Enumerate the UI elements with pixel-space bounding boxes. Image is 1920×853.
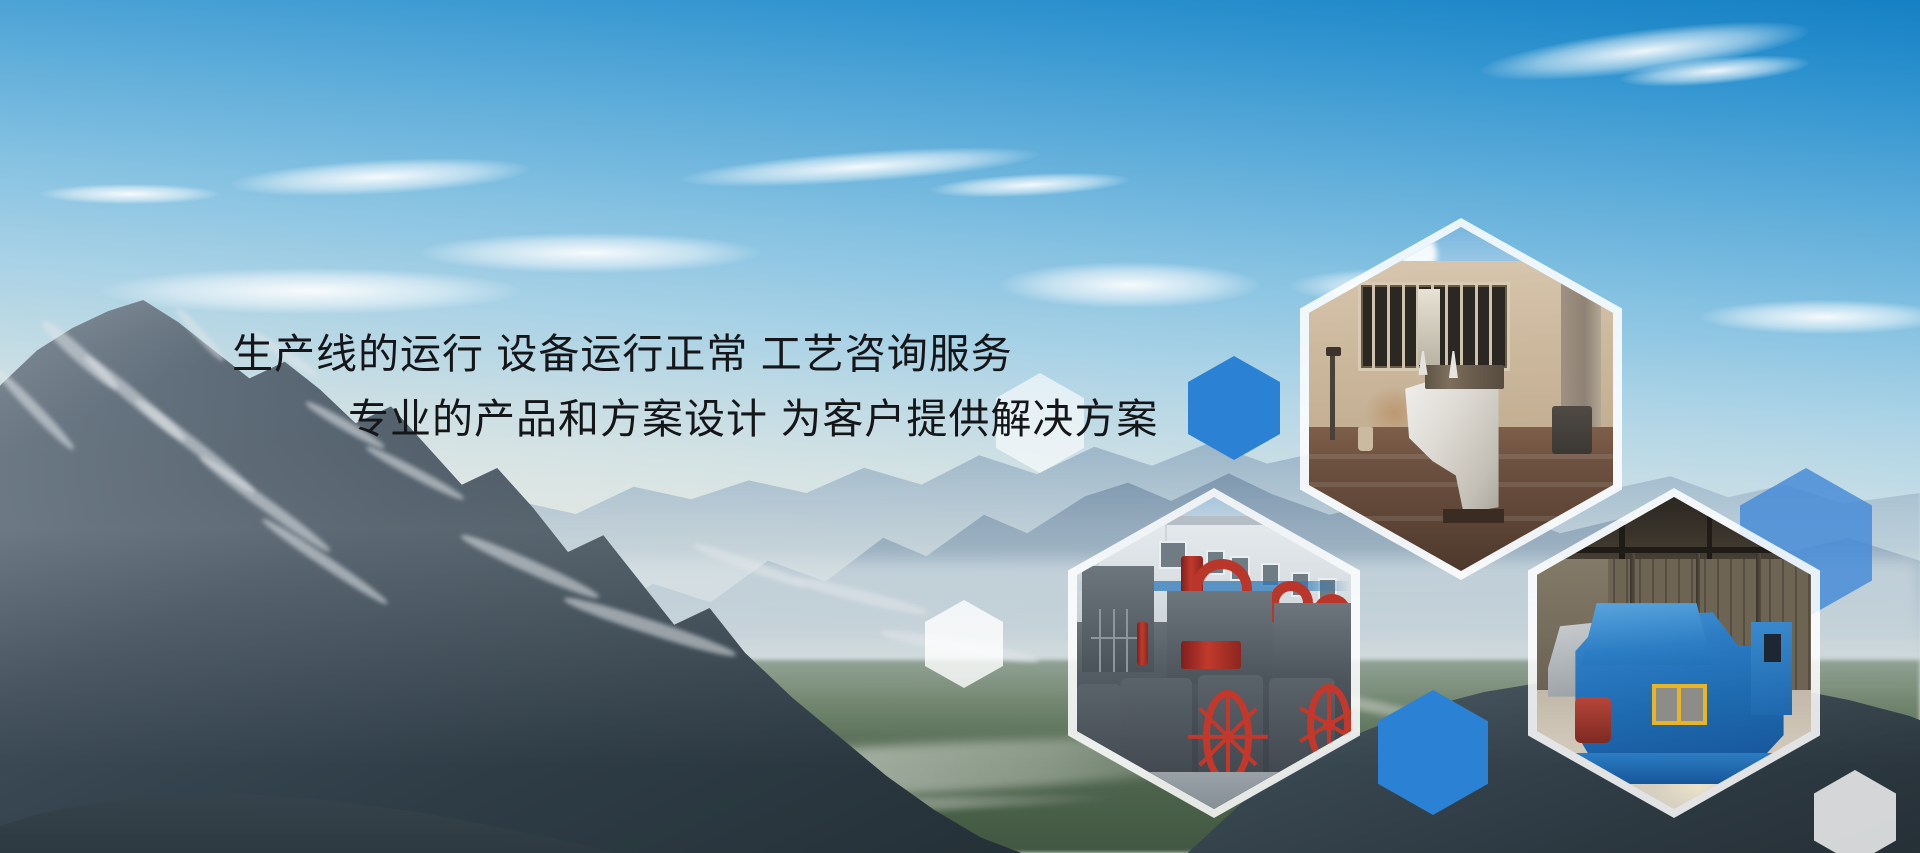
hex-photo-right[interactable]: [1528, 488, 1820, 818]
hero-banner: 生产线的运行 设备运行正常 工艺咨询服务 专业的产品和方案设计 为客户提供解决方…: [0, 0, 1920, 853]
hex-photo-left[interactable]: [1068, 488, 1360, 818]
